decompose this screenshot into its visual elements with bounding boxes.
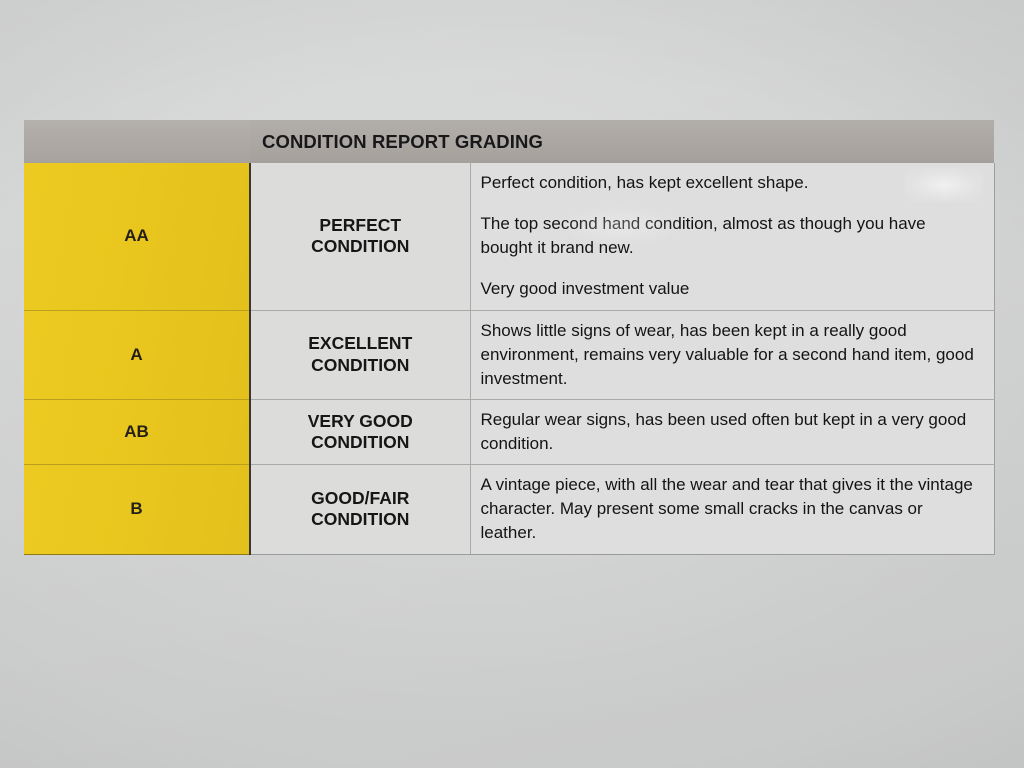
condition-label-line1: VERY GOOD — [308, 411, 413, 431]
table-header-row: CONDITION REPORT GRADING — [24, 120, 994, 163]
description-paragraph: Perfect condition, has kept excellent sh… — [481, 171, 980, 195]
condition-label-b: GOOD/FAIR CONDITION — [250, 465, 470, 554]
grade-code-a: A — [24, 310, 250, 399]
grade-code-aa: AA — [24, 163, 250, 310]
description-paragraph: A vintage piece, with all the wear and t… — [481, 473, 980, 545]
header-spacer-cell — [24, 120, 250, 163]
condition-label-line1: PERFECT — [319, 215, 401, 235]
condition-label-aa: PERFECT CONDITION — [250, 163, 470, 310]
header-title-cell: CONDITION REPORT GRADING — [250, 120, 994, 163]
grade-code-ab: AB — [24, 399, 250, 464]
description-a: Shows little signs of wear, has been kep… — [470, 310, 994, 399]
table-row: A EXCELLENT CONDITION Shows little signs… — [24, 310, 994, 399]
condition-label-ab: VERY GOOD CONDITION — [250, 399, 470, 464]
table-row: B GOOD/FAIR CONDITION A vintage piece, w… — [24, 465, 994, 554]
description-ab: Regular wear signs, has been used often … — [470, 399, 994, 464]
condition-label-line2: CONDITION — [311, 432, 409, 452]
description-paragraph: The top second hand condition, almost as… — [481, 212, 980, 260]
condition-label-line2: CONDITION — [311, 236, 409, 256]
description-paragraph: Regular wear signs, has been used often … — [481, 408, 980, 456]
description-b: A vintage piece, with all the wear and t… — [470, 465, 994, 554]
condition-label-line2: CONDITION — [311, 509, 409, 529]
grade-code-b: B — [24, 465, 250, 554]
table-row: AA PERFECT CONDITION Perfect condition, … — [24, 163, 994, 310]
description-paragraph: Shows little signs of wear, has been kep… — [481, 319, 980, 391]
condition-report-grading-table: CONDITION REPORT GRADING AA PERFECT COND… — [24, 120, 995, 555]
condition-label-a: EXCELLENT CONDITION — [250, 310, 470, 399]
condition-report-grading-table-wrapper: CONDITION REPORT GRADING AA PERFECT COND… — [24, 120, 994, 644]
page-title: CONDITION REPORT GRADING — [250, 131, 994, 153]
condition-label-line1: EXCELLENT — [308, 333, 412, 353]
description-aa: Perfect condition, has kept excellent sh… — [470, 163, 994, 310]
condition-label-line2: CONDITION — [311, 355, 409, 375]
table-row: AB VERY GOOD CONDITION Regular wear sign… — [24, 399, 994, 464]
description-paragraph: Very good investment value — [481, 277, 980, 301]
condition-label-line1: GOOD/FAIR — [311, 488, 409, 508]
